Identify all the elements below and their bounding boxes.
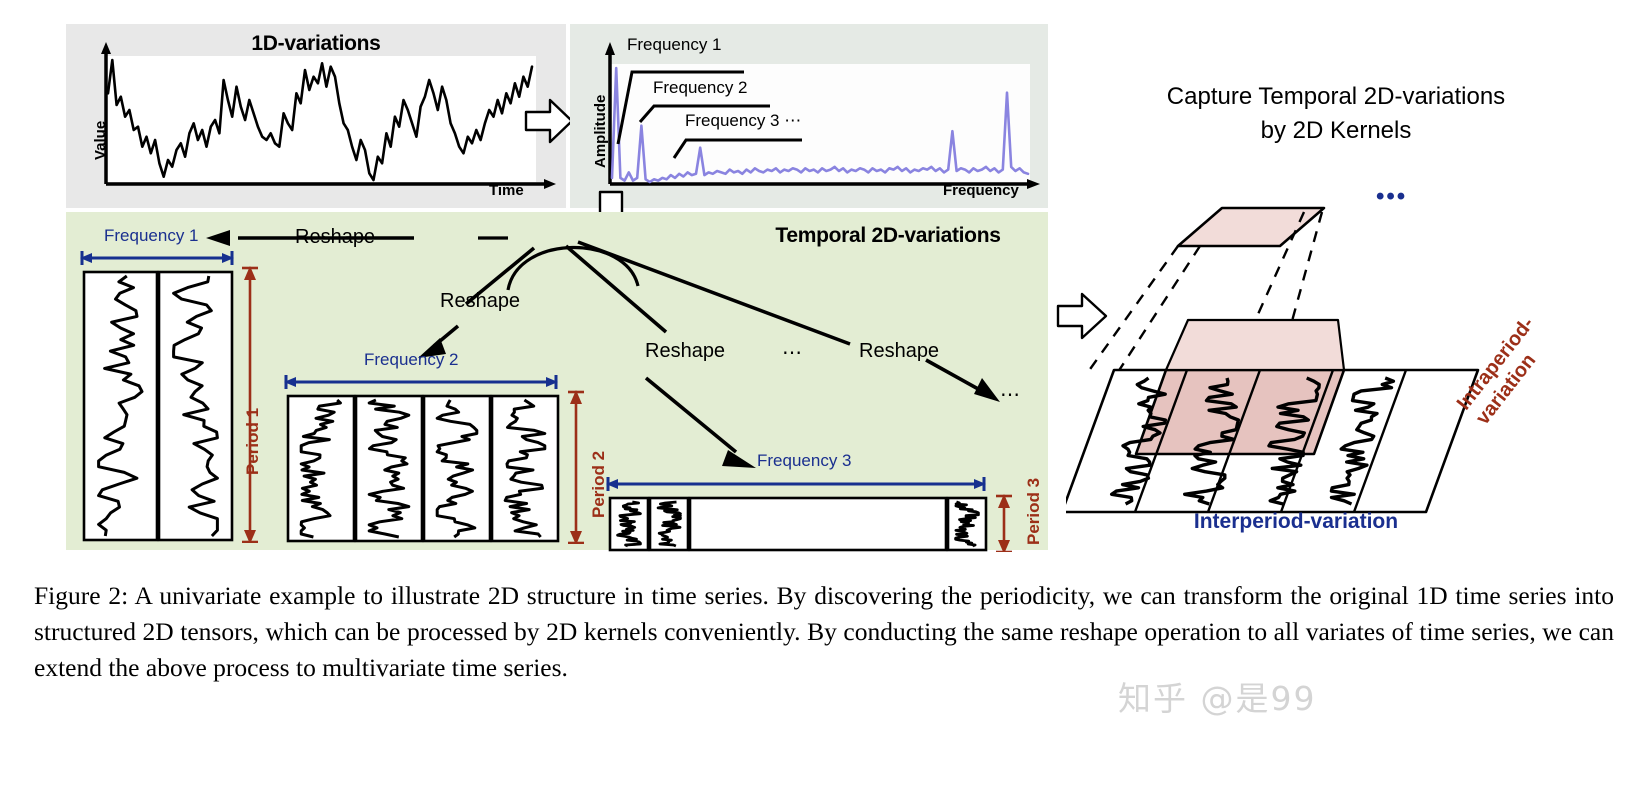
reshape-ellipsis: ⋯ xyxy=(782,340,804,365)
block1-frequency-label: Frequency 1 xyxy=(104,226,199,246)
reshape-label-4: Reshape xyxy=(859,340,939,363)
block2-frequency-label: Frequency 2 xyxy=(364,350,459,370)
figure-2-container: 1D-variations Value Time Amplitude Frequ… xyxy=(0,0,1646,788)
callout-frequency-3: Frequency 3 ⋯ xyxy=(685,111,801,131)
arrow-right-to-spectrum xyxy=(524,96,576,146)
interperiod-variation-label: Interperiod-variation xyxy=(1126,510,1466,534)
callout-frequency-2: Frequency 2 xyxy=(653,78,748,98)
reshape-label-1: Reshape xyxy=(295,226,375,249)
kernels-title-line2: by 2D Kernels xyxy=(1086,114,1586,148)
block-ellipsis-right: ⋯ xyxy=(1000,382,1022,407)
block-frequency-2 xyxy=(282,372,602,544)
reshape-label-2: Reshape xyxy=(440,290,520,313)
kernels-title: Capture Temporal 2D-variations by 2D Ker… xyxy=(1086,80,1586,148)
kernels-title-line1: Capture Temporal 2D-variations xyxy=(1086,80,1586,114)
reshape-label-3: Reshape xyxy=(645,340,725,363)
block-frequency-1 xyxy=(78,248,258,543)
chart-1d-variations xyxy=(66,24,566,208)
figure-caption: Figure 2: A univariate example to illust… xyxy=(34,578,1614,686)
block3-frequency-label: Frequency 3 xyxy=(757,451,852,471)
callout-frequency-1: Frequency 1 xyxy=(627,35,722,55)
block-frequency-3 xyxy=(604,474,1034,552)
